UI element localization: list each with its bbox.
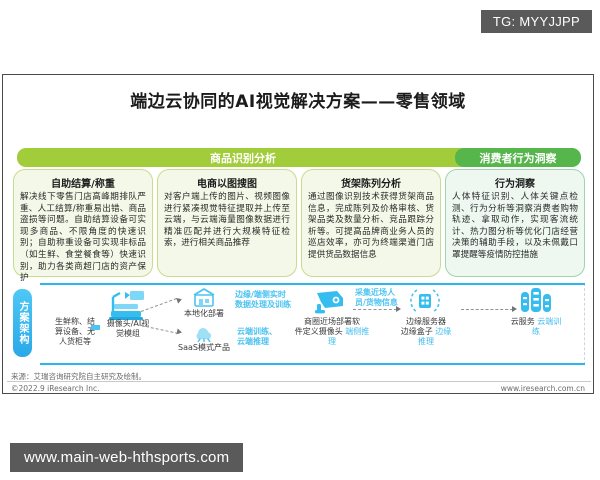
solution-card-group: 自助结算/称重 解决线下零售门店高峰期排队严重、人工结算/称重易出错、商品盗损等…: [13, 169, 585, 277]
architecture-node-caption: 生鲜称、结 算设备、无 人货柜等: [55, 317, 95, 346]
server-rack-icon: [519, 287, 553, 314]
store-icon: [191, 288, 217, 308]
solution-card-body: 人体特征识别、人体关键点检测、行为分析等洞察消费者购物轨迹、拿取动作，实现客流统…: [452, 192, 578, 262]
arrow-head-edge: [396, 306, 401, 312]
architecture-rule-top: [40, 283, 585, 285]
solution-card-body: 解决线下零售门店高峰期排队严重、人工结算/称重易出错、商品盗损等问题。自助结算设…: [20, 192, 146, 285]
architecture-node-edge-server: 边缘服务器 边缘盒子 边缘推理: [399, 317, 453, 347]
copyright-note: ©2022.9 iResearch Inc.: [11, 384, 99, 393]
watermark-top: TG: MYYJJPP: [481, 10, 592, 33]
cloud-icon: [191, 323, 217, 342]
architecture-rule-bottom: [40, 363, 585, 365]
solution-card-self-checkout[interactable]: 自助结算/称重 解决线下零售门店高峰期排队严重、人工结算/称重易出错、商品盗损等…: [13, 169, 153, 277]
architecture-node-software-camera: 商圈近场部署软 件定义摄像头 端侧推理: [293, 317, 371, 347]
architecture-node-device: 生鲜称、结 算设备、无 人货柜等: [49, 317, 101, 347]
solution-card-shelf-analysis[interactable]: 货架陈列分析 通过图像识别技术获得货架商品信息，完成陈列及价格审核、货架品类及数…: [301, 169, 441, 277]
category-bar-group: 商品识别分析 消费者行为洞察: [17, 148, 581, 167]
architecture-node-camera-module: 摄像头/AI视 觉模组: [99, 319, 157, 339]
solution-card-heading: 货架陈列分析: [308, 175, 434, 190]
page-title: 端边云协同的AI视觉解决方案——零售领域: [3, 87, 593, 112]
solution-card-heading: 电商以图搜图: [164, 175, 290, 190]
arrow-camera-to-edge: [353, 309, 397, 310]
collect-info-tag: 采集近场人 员/货物信息: [355, 288, 398, 307]
connector-dash: [91, 325, 100, 330]
watermark-bottom: www.main-web-hthsports.com: [10, 443, 243, 472]
solution-card-body: 对客户端上传的图片、视频图像进行紧凑视觉特征提取并上传至云端，与云端海量图像数据…: [164, 192, 290, 250]
solution-card-image-search[interactable]: 电商以图搜图 对客户端上传的图片、视频图像进行紧凑视觉特征提取并上传至云端，与云…: [157, 169, 297, 277]
architecture-node-caption: 本地化部署: [184, 309, 224, 318]
category-bar-product: 商品识别分析: [17, 148, 469, 167]
edge-box-icon: [409, 287, 441, 315]
architecture-node-cloud-service: 云服务 云端训练: [507, 317, 565, 337]
architecture-band: 方案架构 生鲜称、结 算设备、无 人货柜等 摄像头/AI视 觉模组: [13, 283, 585, 365]
architecture-node-caption: 云服务: [511, 317, 535, 326]
arrow-head-cloud: [512, 306, 517, 312]
architecture-node-caption: 摄像头/AI视 觉模组: [107, 319, 150, 338]
architecture-node-sub: 云端训练: [532, 317, 561, 336]
edge-realtime-tag: 边缘/端侧实时 数据处理及训练: [235, 290, 291, 309]
architecture-node-caption: SaaS模式产品: [178, 343, 230, 352]
category-bar-consumer: 消费者行为洞察: [455, 148, 581, 167]
cloud-train-tag: 云端训练、 云端推理: [237, 327, 277, 346]
solution-card-heading: 自助结算/称重: [20, 175, 146, 190]
arrow-edge-to-cloud: [461, 309, 513, 310]
architecture-label: 方案架构: [13, 289, 32, 357]
solution-card-body: 通过图像识别技术获得货架商品信息，完成陈列及价格审核、货架品类及数量分析、竞品跟…: [308, 192, 434, 262]
site-url: www.iresearch.com.cn: [501, 384, 585, 393]
footer-divider: [7, 381, 591, 382]
self-checkout-scale-icon: [105, 289, 151, 323]
architecture-node-saas: SaaS模式产品: [175, 343, 233, 353]
solution-card-behavior-insight[interactable]: 行为洞察 人体特征识别、人体关键点检测、行为分析等洞察消费者购物轨迹、拿取动作，…: [445, 169, 585, 277]
solution-card-heading: 行为洞察: [452, 175, 578, 190]
security-camera-icon: [313, 289, 349, 315]
infographic-card: 端边云协同的AI视觉解决方案——零售领域 商品识别分析 消费者行为洞察 自助结算…: [2, 74, 594, 394]
architecture-node-local-deploy: 本地化部署: [179, 309, 229, 319]
